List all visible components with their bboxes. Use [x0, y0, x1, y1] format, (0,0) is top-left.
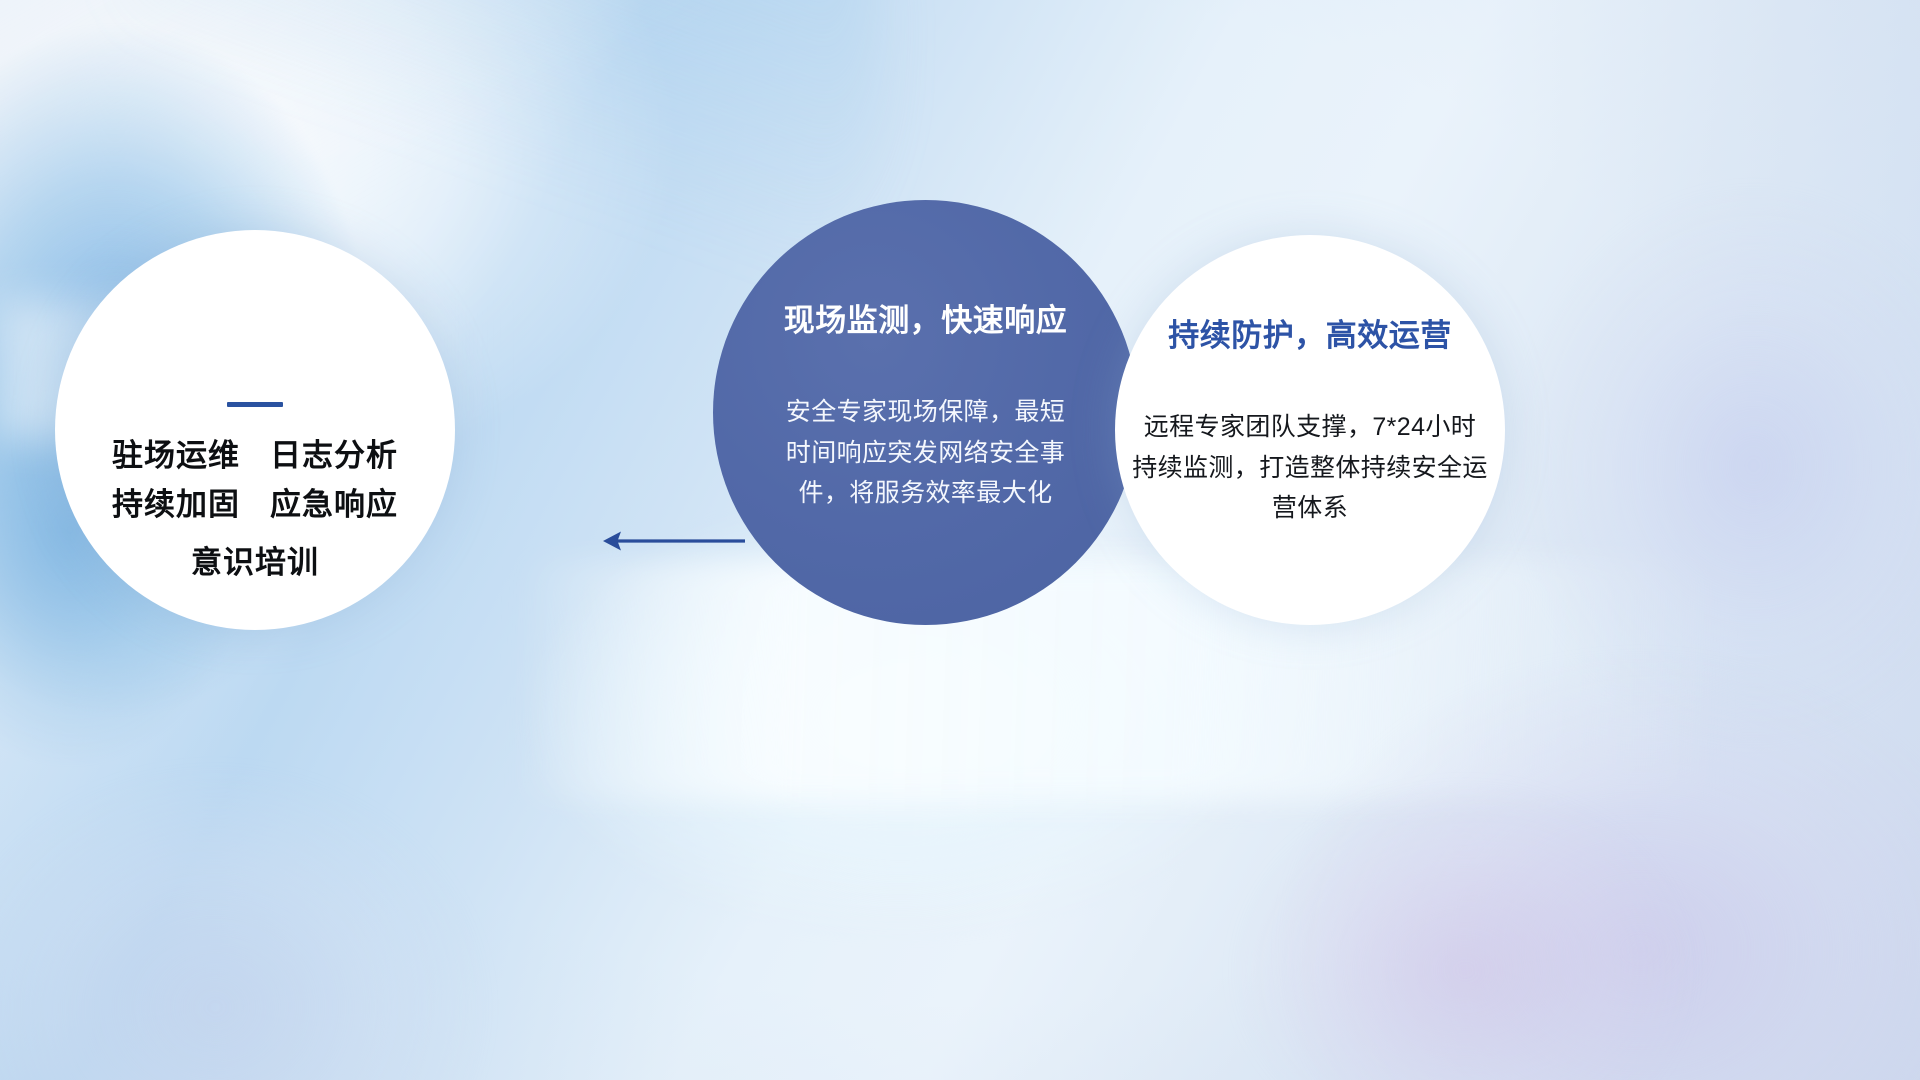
flow-arrow-icon	[595, 520, 745, 562]
service-capability-circle[interactable]: 驻场运维 日志分析 持续加固 应急响应 意识培训	[55, 230, 455, 630]
capability-tag[interactable]: 意识培训	[191, 546, 319, 579]
diagram-canvas: 驻场运维 日志分析 持续加固 应急响应 意识培训 现场监测，快速响应 安全专家现…	[0, 0, 1920, 1080]
capability-tag-row: 驻场运维 日志分析	[112, 439, 398, 472]
capability-tag-row: 意识培训	[191, 546, 319, 579]
continuous-protection-body: 远程专家团队支撑，7*24小时持续监测，打造整体持续安全运营体系	[1132, 407, 1488, 529]
capability-tag[interactable]: 日志分析	[270, 439, 398, 472]
onsite-monitoring-body: 安全专家现场保障，最短时间响应突发网络安全事件，将服务效率最大化	[776, 392, 1076, 514]
capability-tag-row: 持续加固 应急响应	[112, 488, 398, 521]
continuous-protection-circle[interactable]: 持续防护，高效运营 远程专家团队支撑，7*24小时持续监测，打造整体持续安全运营…	[1115, 235, 1505, 625]
continuous-protection-title: 持续防护，高效运营	[1168, 310, 1452, 355]
title-divider	[227, 402, 283, 407]
onsite-monitoring-circle[interactable]: 现场监测，快速响应 安全专家现场保障，最短时间响应突发网络安全事件，将服务效率最…	[713, 200, 1138, 625]
capability-tag[interactable]: 驻场运维	[112, 439, 240, 472]
capability-tag[interactable]: 应急响应	[270, 488, 398, 521]
onsite-monitoring-title: 现场监测，快速响应	[784, 295, 1068, 340]
capability-tag-rows: 驻场运维 日志分析 持续加固 应急响应 意识培训	[55, 439, 455, 579]
capability-tag[interactable]: 持续加固	[112, 488, 240, 521]
